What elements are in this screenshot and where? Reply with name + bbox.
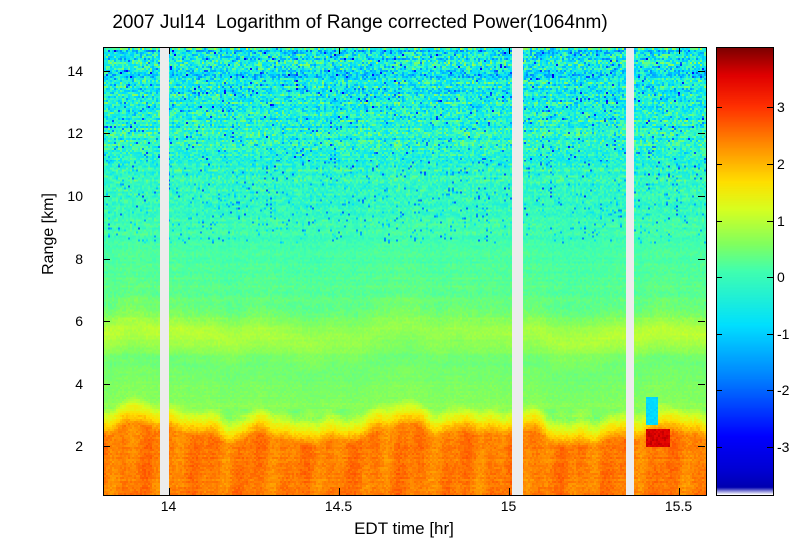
colorbar-tick-label: 2 (777, 156, 785, 172)
colorbar-tick (716, 107, 722, 108)
x-axis-tick-label: 15 (479, 498, 539, 514)
x-axis-tick (169, 488, 170, 495)
x-axis-tick (509, 488, 510, 495)
y-axis-tick (103, 446, 110, 447)
x-axis-tick (509, 47, 510, 54)
heatmap-image (104, 48, 706, 495)
y-axis-tick (698, 133, 705, 134)
y-axis-tick (698, 71, 705, 72)
page-title: 2007 Jul14 Logarithm of Range corrected … (0, 12, 720, 34)
colorbar-tick (767, 447, 773, 448)
y-axis-tick-label: 10 (67, 188, 83, 204)
figure-root: 2007 Jul14 Logarithm of Range corrected … (0, 0, 796, 557)
colorbar-tick (767, 107, 773, 108)
colorbar-tick (716, 277, 722, 278)
y-axis-tick-label: 8 (75, 251, 83, 267)
y-axis-title: Range [km] (40, 154, 58, 314)
y-axis-tick (103, 384, 110, 385)
colorbar[interactable] (716, 47, 774, 496)
x-axis-title: EDT time [hr] (103, 519, 705, 539)
y-axis-tick (698, 259, 705, 260)
data-gap-3 (626, 48, 634, 495)
x-axis-tick (679, 488, 680, 495)
x-axis-tick-label: 14.5 (309, 498, 369, 514)
x-axis-tick (679, 47, 680, 54)
data-gap-1 (160, 48, 169, 495)
y-axis-tick-label: 4 (75, 376, 83, 392)
colorbar-tick-label: 3 (777, 99, 785, 115)
y-axis-tick (698, 446, 705, 447)
colorbar-tick-label: -1 (777, 326, 789, 342)
x-axis-tick (339, 488, 340, 495)
colorbar-tick (767, 164, 773, 165)
heatmap-canvas (104, 48, 706, 495)
x-axis-tick (339, 47, 340, 54)
x-axis-tick (169, 47, 170, 54)
y-axis-tick (698, 321, 705, 322)
colorbar-tick-label: 1 (777, 213, 785, 229)
y-axis-tick (103, 259, 110, 260)
y-axis-tick-label: 14 (67, 63, 83, 79)
y-axis-tick (698, 384, 705, 385)
x-axis-tick-label: 14 (139, 498, 199, 514)
y-axis-tick (103, 133, 110, 134)
heatmap-plot-area[interactable] (103, 47, 707, 496)
y-axis-tick-label: 2 (75, 438, 83, 454)
colorbar-tick (716, 447, 722, 448)
y-axis-tick-label: 12 (67, 125, 83, 141)
y-axis-tick (103, 196, 110, 197)
y-axis-tick (103, 71, 110, 72)
colorbar-tick (767, 390, 773, 391)
y-axis-tick (698, 196, 705, 197)
colorbar-tick (716, 221, 722, 222)
colorbar-tick (767, 221, 773, 222)
colorbar-tick (767, 277, 773, 278)
colorbar-tick (767, 334, 773, 335)
colorbar-tick (716, 390, 722, 391)
x-axis-tick-label: 15.5 (649, 498, 709, 514)
y-axis-tick (103, 321, 110, 322)
data-gap-2 (512, 48, 523, 495)
colorbar-tick (716, 164, 722, 165)
colorbar-tick-label: -3 (777, 439, 789, 455)
colorbar-tick (716, 334, 722, 335)
colorbar-canvas (717, 48, 773, 495)
colorbar-tick-label: 0 (777, 269, 785, 285)
colorbar-tick-label: -2 (777, 382, 789, 398)
y-axis-tick-label: 6 (75, 313, 83, 329)
